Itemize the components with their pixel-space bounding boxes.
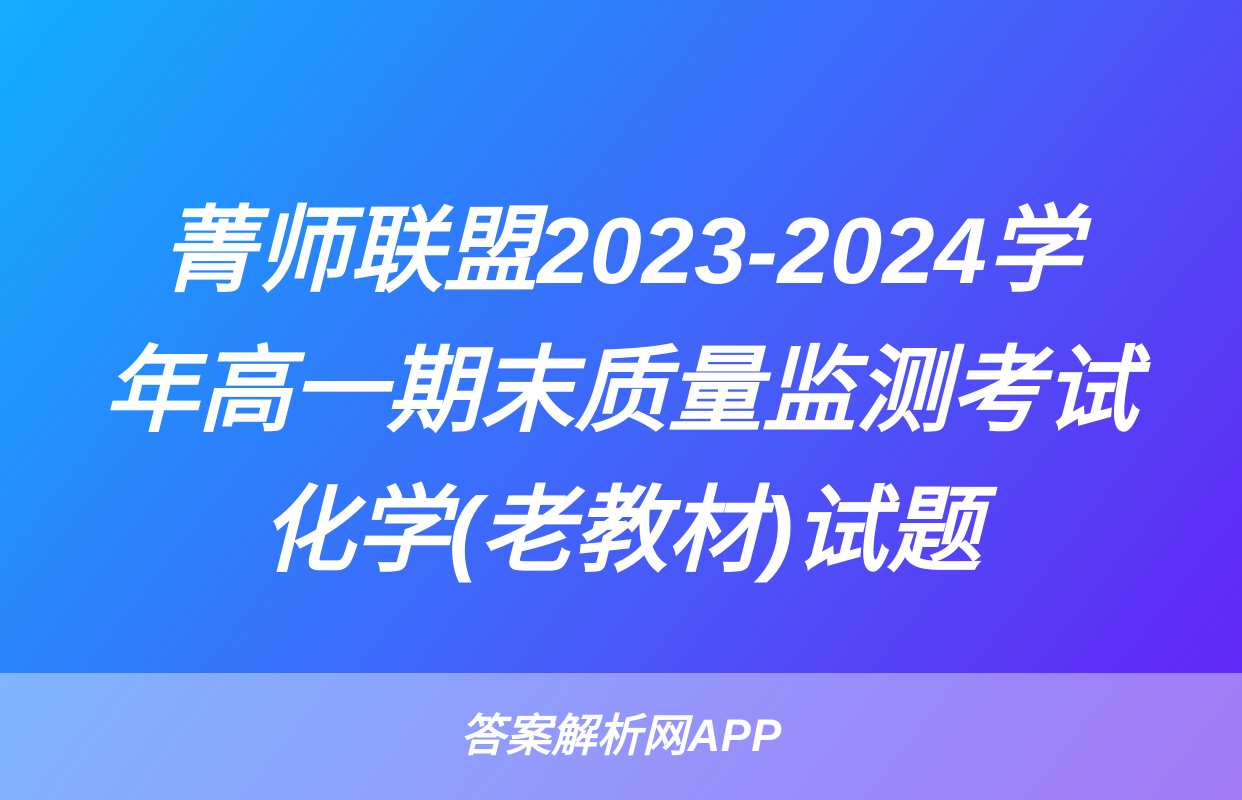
exam-cover-poster: 菁师联盟2023-2024学 年高一期末质量监测考试 化学(老教材)试题 答案解…: [0, 0, 1242, 800]
title-line-3: 化学(老教材)试题: [0, 461, 1242, 601]
page-title: 菁师联盟2023-2024学 年高一期末质量监测考试 化学(老教材)试题: [0, 181, 1242, 601]
title-line-2: 年高一期末质量监测考试: [0, 321, 1242, 461]
watermark-band: 答案解析网APP: [0, 673, 1242, 800]
title-line-1: 菁师联盟2023-2024学: [0, 181, 1242, 321]
watermark-label: 答案解析网APP: [460, 713, 782, 760]
